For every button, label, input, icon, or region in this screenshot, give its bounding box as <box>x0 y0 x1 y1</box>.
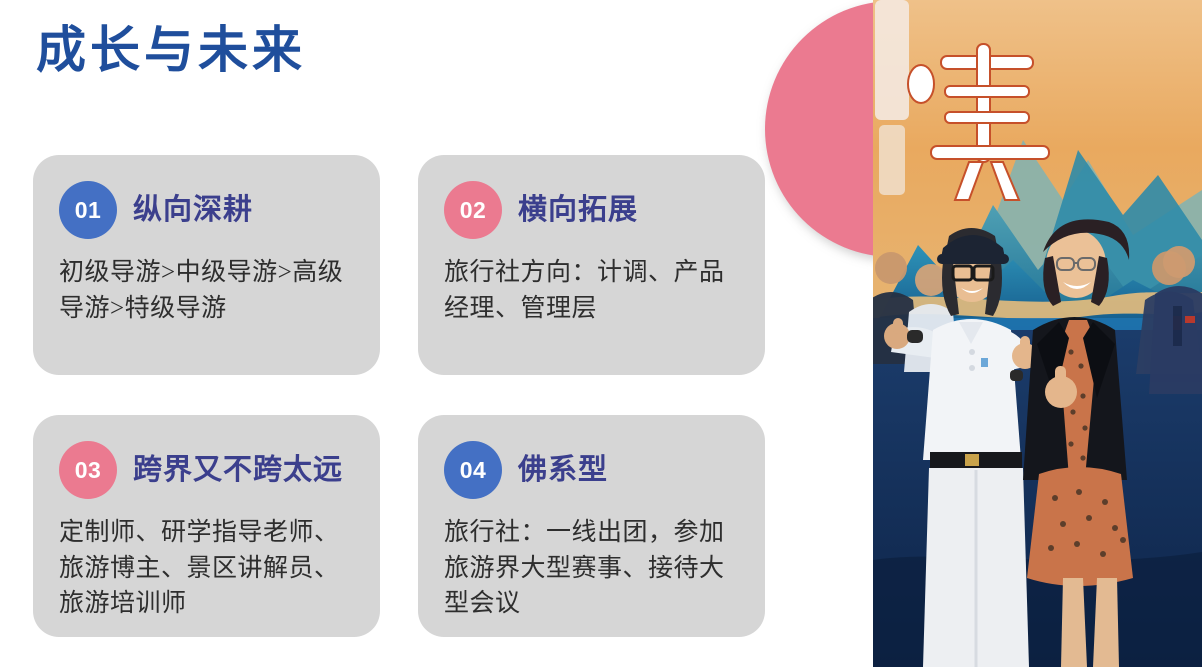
card-02[interactable]: 02 横向拓展 旅行社方向：计调、产品经理、管理层 <box>418 155 765 375</box>
card-02-number-badge: 02 <box>444 181 502 239</box>
card-03-header: 03 跨界又不跨太远 <box>59 439 354 501</box>
card-04[interactable]: 04 佛系型 旅行社：一线出团，参加旅游界大型赛事、接待大型会议 <box>418 415 765 637</box>
photo-illustration <box>873 0 1202 667</box>
card-03-number-badge: 03 <box>59 441 117 499</box>
card-02-heading: 横向拓展 <box>518 196 638 225</box>
card-03[interactable]: 03 跨界又不跨太远 定制师、研学指导老师、旅游博主、景区讲解员、旅游培训师 <box>33 415 380 637</box>
card-01[interactable]: 01 纵向深耕 初级导游>中级导游>高级导游>特级导游 <box>33 155 380 375</box>
card-02-body: 旅行社方向：计调、产品经理、管理层 <box>444 255 739 326</box>
card-04-header: 04 佛系型 <box>444 439 739 501</box>
card-01-header: 01 纵向深耕 <box>59 179 354 241</box>
card-04-number-badge: 04 <box>444 441 502 499</box>
card-04-body: 旅行社：一线出团，参加旅游界大型赛事、接待大型会议 <box>444 515 739 622</box>
photo-panel <box>873 0 1202 667</box>
cards-grid: 01 纵向深耕 初级导游>中级导游>高级导游>特级导游 02 横向拓展 旅行社方… <box>33 155 775 637</box>
card-04-heading: 佛系型 <box>518 456 608 485</box>
card-01-number-badge: 01 <box>59 181 117 239</box>
slide-root: 成长与未来 01 纵向深耕 初级导游>中级导游>高级导游>特级导游 02 横向拓… <box>0 0 1202 667</box>
card-02-header: 02 横向拓展 <box>444 179 739 241</box>
page-title: 成长与未来 <box>36 20 306 80</box>
card-03-body: 定制师、研学指导老师、旅游博主、景区讲解员、旅游培训师 <box>59 515 354 622</box>
card-01-heading: 纵向深耕 <box>133 196 253 225</box>
card-01-body: 初级导游>中级导游>高级导游>特级导游 <box>59 255 354 326</box>
card-03-heading: 跨界又不跨太远 <box>133 456 343 485</box>
